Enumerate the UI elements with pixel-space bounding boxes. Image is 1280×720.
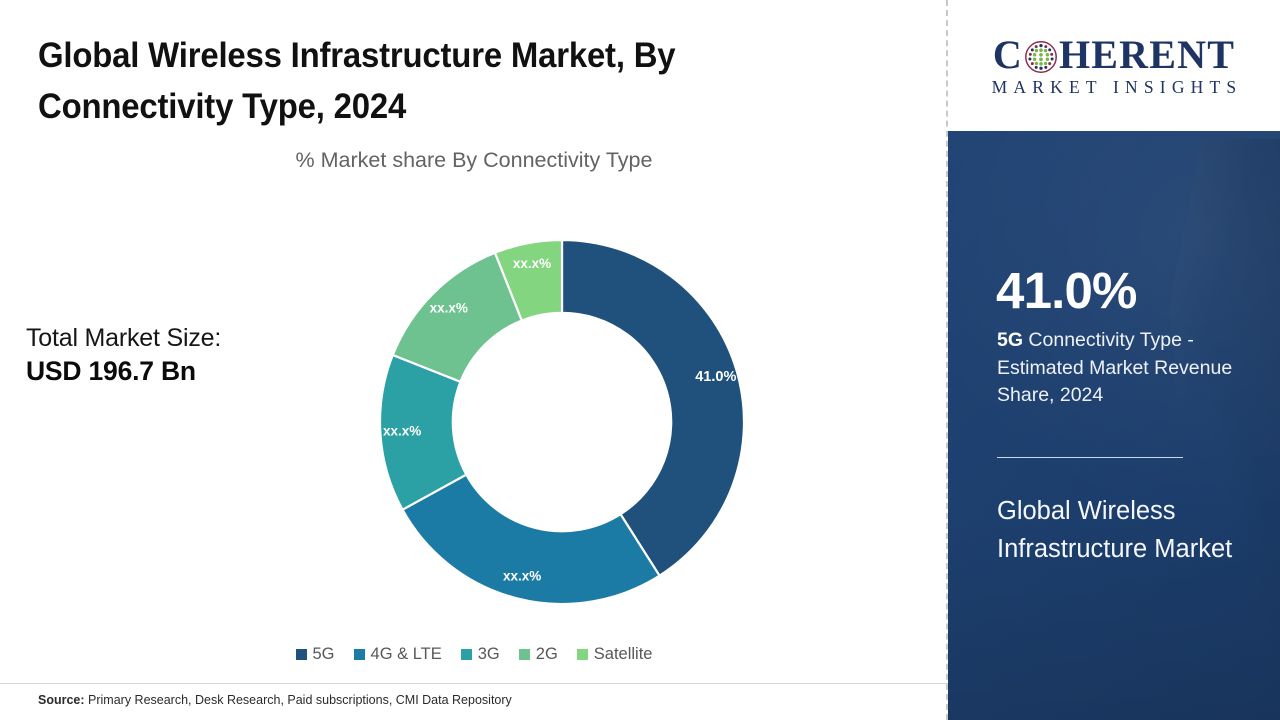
legend-label: 2G [536,645,558,664]
donut-slice-4g-lte [403,475,660,604]
total-market-size: Total Market Size: USD 196.7 Bn [26,322,346,388]
source-note: Source: Primary Research, Desk Research,… [38,693,512,707]
title-block: Global Wireless Infrastructure Market, B… [38,30,828,133]
legend-item-4g-lte[interactable]: 4G & LTE [354,645,442,664]
logo-wordmark: C [993,35,1235,75]
chart-panel: Global Wireless Infrastructure Market, B… [0,0,948,720]
donut-slice-5g [562,240,744,576]
legend-swatch-icon [354,649,365,660]
legend-label: 5G [313,645,335,664]
donut-slice-group [380,240,744,604]
logo-letters-herent: HERENT [1059,35,1235,75]
donut-chart: 41.0%xx.x%xx.x%xx.x%xx.x% [380,232,744,612]
total-market-label: Total Market Size: [26,322,346,354]
legend-label: Satellite [594,645,653,664]
side-panel: C [948,0,1280,720]
legend-item-satellite[interactable]: Satellite [577,645,653,664]
highlight-stat-text: Connectivity Type - Estimated Market Rev… [997,329,1232,406]
donut-slice-label-4g-lte: xx.x% [503,569,541,584]
chart-subtitle: % Market share By Connectivity Type [0,148,948,173]
infographic-page: Global Wireless Infrastructure Market, B… [0,0,1280,720]
side-panel-market-name: Global Wireless Infrastructure Market [997,493,1247,569]
donut-chart-svg: 41.0%xx.x%xx.x%xx.x%xx.x% [380,232,744,612]
highlight-stat-description: 5G Connectivity Type - Estimated Market … [997,327,1245,410]
side-panel-divider [997,457,1183,458]
donut-slice-label-3g: xx.x% [383,424,421,439]
chart-legend: 5G4G & LTE3G2GSatellite [0,645,948,664]
legend-swatch-icon [461,649,472,660]
footer-divider [0,683,948,684]
source-label: Source: [38,693,85,707]
logo-letter-c: C [993,35,1023,75]
donut-slice-label-5g: 41.0% [695,369,736,385]
legend-label: 4G & LTE [371,645,442,664]
page-title: Global Wireless Infrastructure Market, B… [38,30,781,133]
total-market-value: USD 196.7 Bn [26,354,346,388]
legend-label: 3G [478,645,500,664]
logo-tagline: MARKET INSIGHTS [986,79,1243,97]
legend-swatch-icon [296,649,307,660]
side-panel-body: 41.0% 5G Connectivity Type - Estimated M… [948,131,1280,720]
legend-item-2g[interactable]: 2G [519,645,558,664]
globe-icon [1024,40,1058,74]
legend-item-3g[interactable]: 3G [461,645,500,664]
legend-item-5g[interactable]: 5G [296,645,335,664]
highlight-stat-segment: 5G [997,329,1023,351]
donut-slice-label-2g: xx.x% [430,300,468,315]
highlight-stat-value: 41.0% [996,265,1137,316]
legend-swatch-icon [577,649,588,660]
company-logo: C [948,0,1280,131]
donut-slice-label-satellite: xx.x% [513,256,551,271]
source-text: Primary Research, Desk Research, Paid su… [85,693,512,707]
legend-swatch-icon [519,649,530,660]
